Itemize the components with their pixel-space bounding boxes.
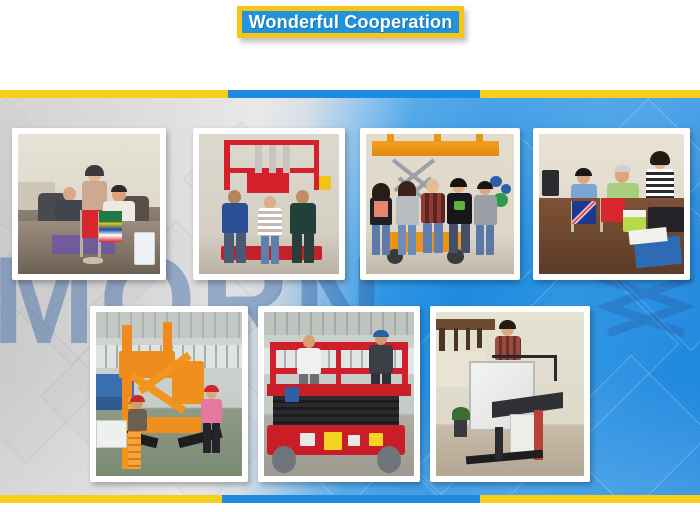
stripe-segment-blue-middle	[222, 495, 480, 503]
stripe-segment-yellow-left	[0, 90, 228, 98]
gallery-stage: MORN	[0, 98, 700, 495]
title-zone: Wonderful Cooperation	[0, 0, 700, 78]
stripe-segment-yellow-right	[480, 495, 700, 503]
photo-orange-articulating-boom-lift-factory[interactable]	[90, 306, 248, 482]
page-title-banner: Wonderful Cooperation	[237, 6, 464, 38]
page-title: Wonderful Cooperation	[249, 13, 453, 31]
photo-office-meeting-china-south-africa-flags[interactable]	[12, 128, 166, 280]
photo-wheelchair-platform-lift-staircase[interactable]	[430, 306, 590, 482]
photo-red-scissor-lift-workers-on-platform[interactable]	[258, 306, 420, 482]
top-stripe-bar	[0, 90, 700, 98]
photo-office-meeting-uk-china-flags[interactable]	[533, 128, 690, 280]
page-title-inner: Wonderful Cooperation	[242, 11, 459, 33]
promo-banner-page: Wonderful Cooperation	[0, 0, 700, 512]
photo-red-mast-lift-with-visitors[interactable]	[193, 128, 345, 280]
photo-group-thumbs-up-orange-scissor-lift[interactable]	[360, 128, 520, 280]
bottom-stripe-bar	[0, 495, 700, 503]
stripe-segment-yellow-right	[480, 90, 700, 98]
stripe-segment-blue-middle	[228, 90, 480, 98]
stripe-segment-yellow-left	[0, 495, 222, 503]
